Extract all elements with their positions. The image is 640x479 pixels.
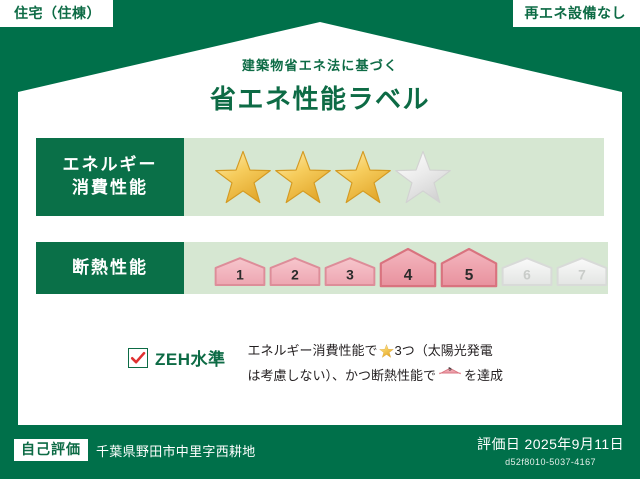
insulation-grade-house: 4 (379, 246, 437, 290)
zeh-desc-text-c: は考慮しない）、かつ断熱性能で (248, 368, 437, 383)
insulation-grade-house: 2 (269, 254, 321, 290)
star-rating (214, 149, 452, 205)
star-empty-icon (394, 149, 452, 205)
zeh-desc-text-b: 3つ（太陽光発電 (395, 343, 493, 358)
star-filled-icon (274, 149, 332, 205)
zeh-description-line1: エネルギー消費性能で 3つ（太陽光発電 (248, 340, 504, 365)
label-footer: 自己評価 千葉県野田市中里字西耕地 評価日 2025年9月11日 d52f801… (0, 425, 640, 479)
inline-star-icon (379, 346, 394, 361)
insulation-performance-label-box: 断熱性能 (36, 242, 184, 294)
insulation-grade-house: 6 (501, 254, 553, 290)
zeh-desc-text-d: を達成 (464, 368, 503, 383)
energy-label-line1: エネルギー (63, 154, 158, 177)
insulation-grade-house: 5 (440, 246, 498, 290)
insulation-grade-house: 3 (324, 254, 376, 290)
property-address: 千葉県野田市中里字西耕地 (96, 441, 256, 460)
zeh-standard-block: ZEH水準 エネルギー消費性能で 3つ（太陽光発電 は考慮しない）、かつ断熱性能… (128, 340, 503, 392)
energy-performance-row: エネルギー 消費性能 (36, 138, 604, 216)
insulation-performance-panel: 1 2 3 (184, 242, 608, 294)
zeh-description-line2: は考慮しない）、かつ断熱性能で 5 を達成 (248, 365, 504, 391)
zeh-desc-text-a: エネルギー消費性能で (248, 343, 378, 358)
page-title: 省エネ性能ラベル (0, 79, 640, 116)
star-filled-icon (334, 149, 392, 205)
zeh-label: ZEH水準 (155, 345, 226, 370)
energy-label-line2: 消費性能 (72, 177, 148, 200)
svg-text:3: 3 (346, 266, 354, 282)
insulation-label-line1: 断熱性能 (72, 257, 148, 280)
zeh-badge: ZEH水準 (128, 345, 226, 370)
svg-text:4: 4 (404, 267, 413, 284)
zeh-description: エネルギー消費性能で 3つ（太陽光発電 は考慮しない）、かつ断熱性能で (248, 340, 504, 392)
self-evaluation-badge: 自己評価 (14, 439, 88, 461)
svg-text:2: 2 (291, 266, 299, 282)
svg-text:7: 7 (578, 266, 586, 282)
insulation-grade-scale: 1 2 3 (214, 246, 608, 290)
insulation-performance-row: 断熱性能 1 2 (36, 242, 604, 294)
insulation-grade-house: 7 (556, 254, 608, 290)
insulation-grade-house: 5 (439, 367, 461, 384)
svg-text:6: 6 (523, 266, 531, 282)
svg-text:5: 5 (465, 267, 474, 284)
title-subtitle: 建築物省エネ法に基づく (0, 55, 640, 74)
evaluation-id: d52f8010-5037-4167 (477, 457, 624, 467)
renewable-energy-tag: 再エネ設備なし (513, 0, 640, 27)
svg-text:1: 1 (236, 266, 244, 282)
star-filled-icon (214, 149, 272, 205)
insulation-grade-house: 1 (214, 254, 266, 290)
energy-performance-panel (184, 138, 604, 216)
footer-left-group: 自己評価 千葉県野田市中里字西耕地 (14, 439, 256, 461)
building-type-tag: 住宅（住棟） (0, 0, 113, 27)
footer-right-group: 評価日 2025年9月11日 d52f8010-5037-4167 (477, 434, 624, 467)
inline-house-icon: 5 (439, 372, 461, 387)
check-icon (130, 350, 146, 366)
zeh-checkbox[interactable] (128, 348, 148, 368)
energy-performance-label-box: エネルギー 消費性能 (36, 138, 184, 216)
energy-performance-label: 住宅（住棟） 再エネ設備なし 建築物省エネ法に基づく 省エネ性能ラベル エネルギ… (0, 0, 640, 479)
star-filled-icon (379, 344, 394, 358)
label-title-block: 建築物省エネ法に基づく 省エネ性能ラベル (0, 55, 640, 116)
evaluation-date: 評価日 2025年9月11日 (477, 434, 624, 454)
